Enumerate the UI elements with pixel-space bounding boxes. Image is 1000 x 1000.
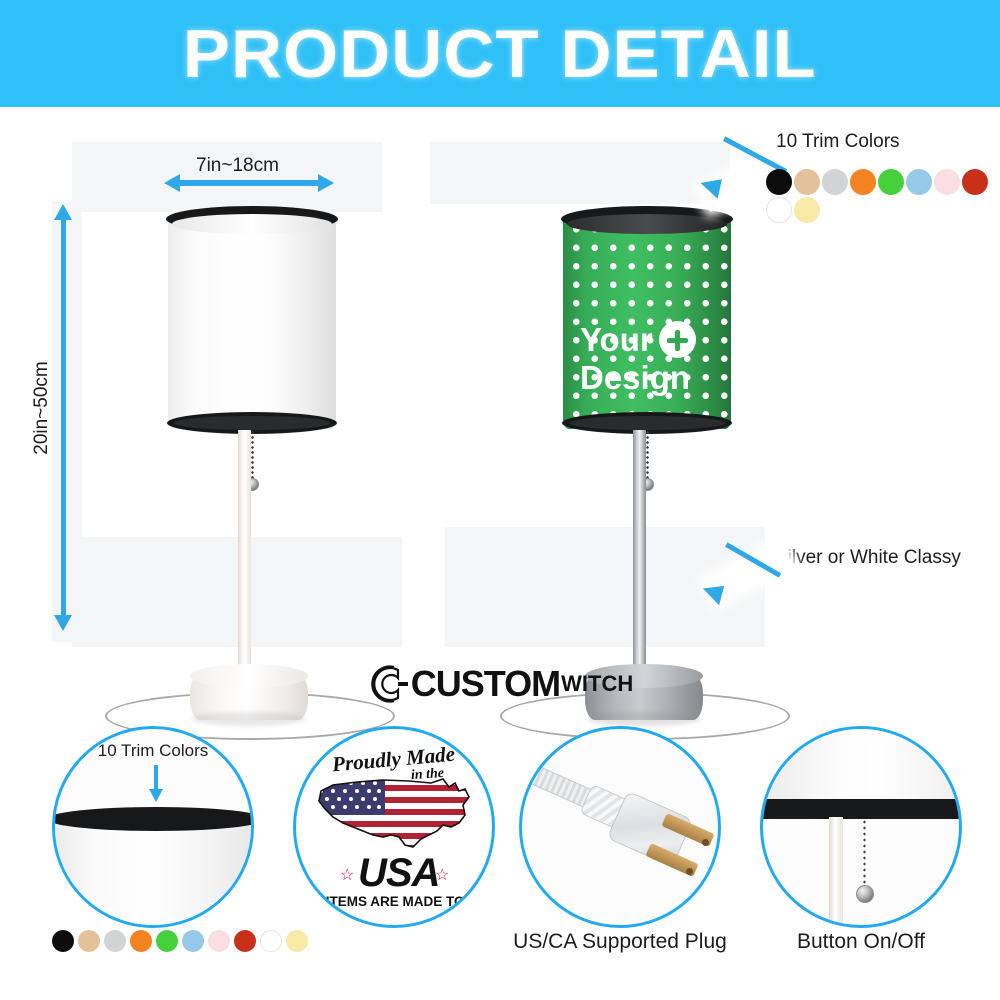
trim-swatch-pale-yellow[interactable] (286, 930, 308, 952)
lamp-white (150, 202, 350, 652)
trim-swatch-pink[interactable] (934, 169, 960, 195)
callout-made-in-usa: Proudly Made in the (293, 726, 495, 928)
trim-swatch-tan[interactable] (78, 930, 100, 952)
width-arrow-head-left (164, 174, 180, 192)
design-line-1: Your (580, 321, 653, 358)
lamp-white-pole (238, 430, 251, 685)
switch-shade-bottom (760, 726, 962, 803)
page-header: PRODUCT DETAIL (0, 0, 1000, 107)
trim-swatch-white[interactable] (260, 930, 282, 952)
chain-beads (863, 819, 866, 891)
trim-swatch-light-blue[interactable] (906, 169, 932, 195)
switch-pull-chain[interactable] (863, 819, 866, 891)
trim-swatch-pink[interactable] (208, 930, 230, 952)
lamp-white-shade-surface (168, 214, 336, 429)
callout-trim-colors: 10 Trim Colors (52, 726, 254, 928)
trim-circle-arrow-line (154, 765, 158, 791)
product-detail-page: PRODUCT DETAIL 7in~18cm 20in~50cm (0, 0, 1000, 1000)
callout-plug (519, 726, 721, 928)
trim-swatch-dark-red[interactable] (962, 169, 988, 195)
width-dimension-label: 7in~18cm (196, 155, 279, 177)
trim-swatch-orange[interactable] (130, 930, 152, 952)
usa-tagline: ALL ITEMS ARE MADE TO ORDER! (296, 894, 492, 909)
page-title: PRODUCT DETAIL (183, 15, 817, 93)
switch-caption: Button On/Off (741, 930, 981, 954)
switch-chain-ball[interactable] (856, 885, 874, 903)
lamp-green-pull-chain[interactable] (646, 430, 649, 482)
trim-swatch-dark-red[interactable] (234, 930, 256, 952)
bg-panel-4 (430, 142, 730, 204)
trim-colors-label: 10 Trim Colors (776, 131, 900, 153)
height-arrow-head-top (54, 204, 72, 220)
lamp-green-shade: Your Design (563, 214, 731, 429)
lamp-green-pole (633, 430, 646, 685)
lamp-white-shade-top-face (172, 214, 332, 234)
trim-swatch-black[interactable] (52, 930, 74, 952)
trim-circle-inner-label: 10 Trim Colors (55, 741, 251, 761)
trim-circle-shade (52, 821, 254, 928)
plug-illustration (522, 729, 718, 925)
plus-icon (659, 321, 696, 358)
height-dimension-label: 20in~50cm (31, 343, 53, 473)
trim-swatch-orange[interactable] (850, 169, 876, 195)
plug-prong-hole-2 (686, 868, 693, 875)
callout-switch (760, 726, 962, 928)
usa-map-flag-icon (313, 769, 483, 855)
logo-witch-box: WITCH (561, 673, 633, 695)
main-showcase: 7in~18cm 20in~50cm (0, 107, 1000, 700)
trim-swatch-light-gray[interactable] (104, 930, 126, 952)
lamp-white-pull-chain[interactable] (251, 430, 254, 482)
lamp-green-design-placeholder: Your Design (563, 321, 731, 395)
plug-prong-hole-1 (702, 839, 709, 846)
trim-swatch-light-gray[interactable] (822, 169, 848, 195)
usa-star-right: ☆ (435, 865, 449, 885)
trim-circle-arrow-head (149, 789, 163, 802)
lamp-green-shade-bottom-inner (569, 416, 725, 430)
usa-badge: Proudly Made in the (296, 729, 492, 925)
switch-pole (829, 817, 843, 928)
trim-color-swatches-bottom (52, 930, 312, 956)
trim-swatch-white[interactable] (766, 197, 792, 223)
trim-colors-arrow-head (698, 175, 722, 199)
width-arrow-head-right (318, 174, 334, 192)
width-arrow-line (178, 180, 318, 186)
plug-caption: US/CA Supported Plug (500, 930, 740, 954)
trim-swatch-tan[interactable] (794, 169, 820, 195)
trim-circle-band (52, 807, 254, 831)
chain-beads (251, 430, 254, 482)
feature-callouts: 10 Trim Colors Proudly Made in the (0, 708, 1000, 1000)
usa-country-text: USA (358, 851, 439, 896)
usa-star-left: ☆ (340, 865, 354, 885)
trim-swatch-green[interactable] (156, 930, 178, 952)
switch-trim-band (760, 799, 962, 819)
trim-swatch-pale-yellow[interactable] (794, 197, 820, 223)
chain-beads (646, 430, 649, 482)
logo-custom-text: CUSTOM (411, 663, 560, 705)
lamp-white-shade-bottom-inner (174, 416, 330, 430)
height-arrow-line (61, 219, 66, 615)
height-arrow-head-bottom (54, 615, 72, 631)
trim-swatch-light-blue[interactable] (182, 930, 204, 952)
trim-swatch-black[interactable] (766, 169, 792, 195)
brand-logo: CUSTOM WITCH (0, 660, 1000, 708)
logo-c-icon (367, 664, 411, 704)
design-line-2: Design (580, 361, 731, 395)
lamp-green-shade-top-face (567, 214, 727, 234)
trim-swatch-green[interactable] (878, 169, 904, 195)
design-line-1-row: Your (580, 321, 731, 358)
trim-color-swatches-top (766, 169, 1000, 225)
base-finish-label: Silver or White Classy (775, 547, 961, 569)
lamp-white-shade (168, 214, 336, 429)
logo-witch-text: WITCH (561, 673, 633, 695)
